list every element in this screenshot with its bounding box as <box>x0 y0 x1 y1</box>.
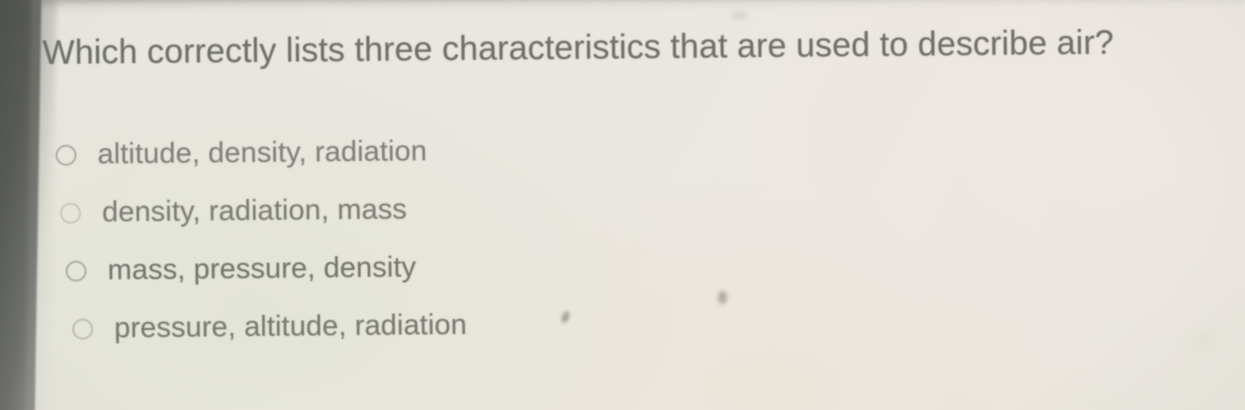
quiz-content: Which correctly lists three characterist… <box>0 0 1245 410</box>
quiz-screenshot: Which correctly lists three characterist… <box>0 0 1245 410</box>
radio-button-icon-2[interactable] <box>60 202 81 223</box>
question-text: Which correctly lists three characterist… <box>42 21 1222 74</box>
radio-button-icon-4[interactable] <box>72 318 93 339</box>
radio-button-icon-1[interactable] <box>55 144 76 165</box>
answer-option-1[interactable]: altitude, density, radiation <box>55 116 1036 183</box>
answer-option-3[interactable]: mass, pressure, density <box>65 232 1046 299</box>
answer-option-label-1: altitude, density, radiation <box>97 134 427 171</box>
answer-option-label-3: mass, pressure, density <box>107 250 416 287</box>
answer-option-label-4: pressure, altitude, radiation <box>114 308 467 345</box>
answer-option-4[interactable]: pressure, altitude, radiation <box>72 290 1053 357</box>
answer-options-list: altitude, density, radiation density, ra… <box>55 116 1037 357</box>
radio-button-icon-3[interactable] <box>66 260 87 281</box>
answer-option-label-2: density, radiation, mass <box>102 192 407 229</box>
answer-option-2[interactable]: density, radiation, mass <box>60 174 1041 241</box>
